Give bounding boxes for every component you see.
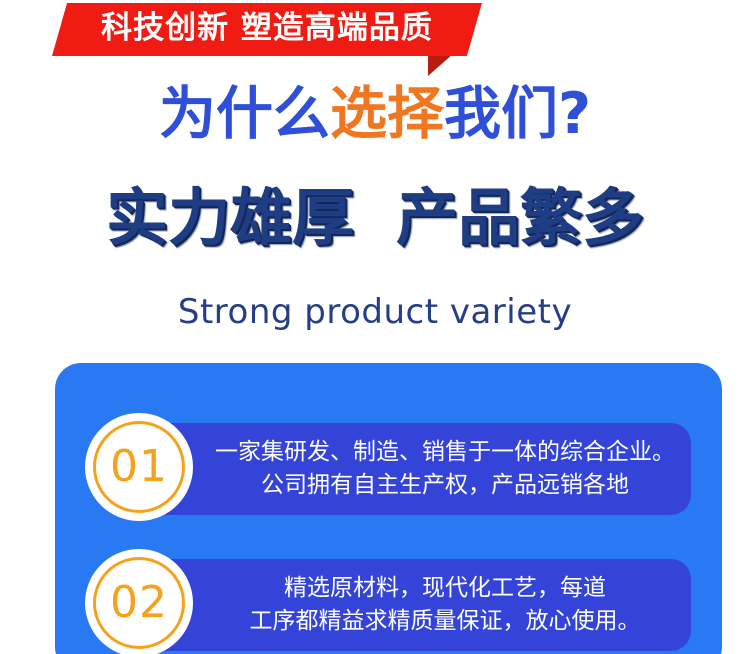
feature-number-badge-02: 02 (85, 549, 193, 654)
feature-text-pill-02: 精选原材料，现代化工艺，每道 工序都精益求精质量保证，放心使用。 (131, 559, 691, 651)
feature-number-badge-01: 01 (85, 413, 193, 521)
badge-ring: 02 (93, 557, 185, 649)
feature-line-2: 公司拥有自主生产权，产品远销各地 (261, 469, 629, 502)
ribbon-text: 科技创新 塑造高端品质 (101, 13, 433, 46)
subtitle-right: 产品繁多 (396, 181, 644, 254)
ribbon-body: 科技创新 塑造高端品质 (52, 3, 482, 56)
ribbon-fold-tail (428, 54, 478, 76)
promo-page: 科技创新 塑造高端品质 为什么选择我们? 实力雄厚产品繁多 Strong pro… (0, 0, 750, 654)
badge-number: 02 (110, 581, 168, 625)
badge-ring: 01 (93, 421, 185, 513)
features-card: 一家集研发、制造、销售于一体的综合企业。 公司拥有自主生产权，产品远销各地 01… (55, 363, 722, 654)
ribbon-banner: 科技创新 塑造高端品质 (0, 0, 750, 78)
feature-line-1: 一家集研发、制造、销售于一体的综合企业。 (215, 436, 675, 469)
subtitle-left: 实力雄厚 (106, 181, 354, 254)
feature-row-02: 精选原材料，现代化工艺，每道 工序都精益求精质量保证，放心使用。 02 (55, 553, 722, 653)
english-subtitle: Strong product variety (0, 292, 750, 332)
headline-part-2-highlight: 选择 (330, 81, 444, 147)
headline-part-1: 为什么 (159, 81, 330, 147)
feature-text-pill-01: 一家集研发、制造、销售于一体的综合企业。 公司拥有自主生产权，产品远销各地 (131, 423, 691, 515)
feature-line-1: 精选原材料，现代化工艺，每道 (284, 572, 606, 605)
page-title: 为什么选择我们? (0, 84, 750, 146)
subtitle: 实力雄厚产品繁多 (0, 184, 750, 252)
badge-number: 01 (110, 445, 168, 489)
headline-part-3: 我们? (444, 81, 591, 147)
feature-row-01: 一家集研发、制造、销售于一体的综合企业。 公司拥有自主生产权，产品远销各地 01 (55, 417, 722, 517)
feature-line-2: 工序都精益求精质量保证，放心使用。 (250, 605, 641, 638)
